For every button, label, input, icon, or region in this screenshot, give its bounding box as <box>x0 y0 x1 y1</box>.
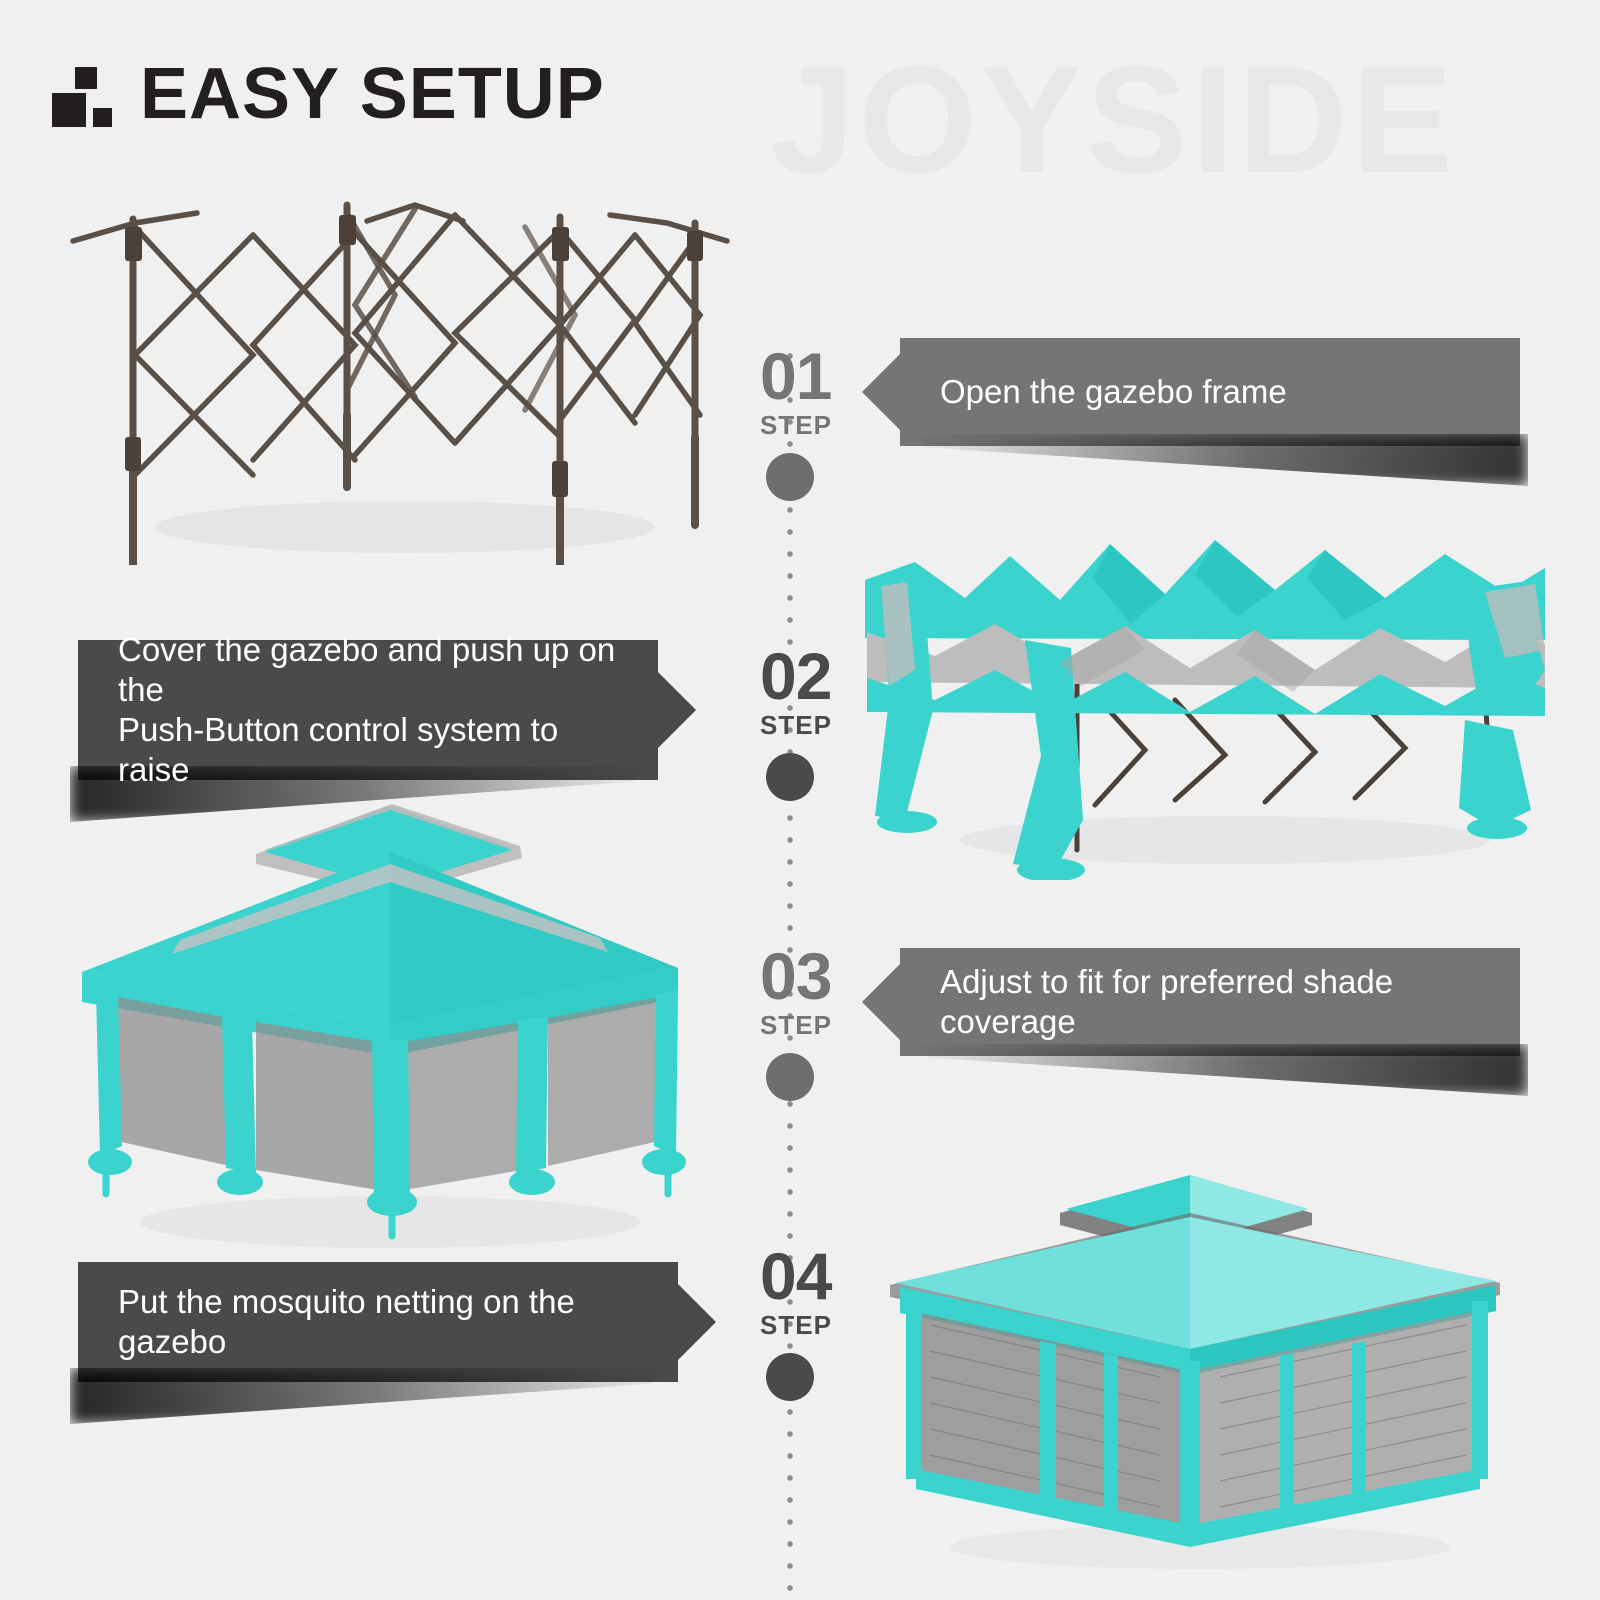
step-bullet <box>766 753 814 801</box>
callout-text-02-line2: Push-Button control system to raise <box>118 710 618 791</box>
gazebo-raised-photo <box>60 790 700 1260</box>
three-squares-icon <box>52 61 112 127</box>
step-label: STEP <box>760 1010 820 1041</box>
callout-step-01: Open the gazebo frame <box>900 338 1520 446</box>
step-marker-01: 01STEP <box>760 345 820 501</box>
step-bullet <box>766 1053 814 1101</box>
callout-text-01: Open the gazebo frame <box>940 372 1287 412</box>
brand-watermark: JOYSIDE <box>770 44 1457 196</box>
step-number: 02 <box>760 645 820 708</box>
callout-step-03: Adjust to fit for preferred shade covera… <box>900 948 1520 1056</box>
step-bullet <box>766 453 814 501</box>
step-marker-02: 02STEP <box>760 645 820 801</box>
step-label: STEP <box>760 710 820 741</box>
step-label: STEP <box>760 410 820 441</box>
page-header: EASY SETUP <box>52 58 605 130</box>
step-number: 01 <box>760 345 820 408</box>
step-bullet <box>766 1353 814 1401</box>
step-marker-04: 04STEP <box>760 1245 820 1401</box>
gazebo-canopy-draped-photo <box>845 520 1555 880</box>
callout-step-02: Cover the gazebo and push up on the Push… <box>78 640 658 780</box>
gazebo-with-netting-photo <box>860 1155 1530 1575</box>
step-marker-03: 03STEP <box>760 945 820 1101</box>
callout-step-04: Put the mosquito netting on the gazebo <box>78 1262 678 1382</box>
step-number: 03 <box>760 945 820 1008</box>
page-title: EASY SETUP <box>140 58 605 130</box>
steps-timeline: 01STEP02STEP03STEP04STEP <box>760 345 820 1600</box>
callout-text-02-line1: Cover the gazebo and push up on the <box>118 631 615 708</box>
gazebo-frame-open-photo <box>55 175 745 565</box>
callout-text-04: Put the mosquito netting on the gazebo <box>118 1282 638 1363</box>
callout-text-03: Adjust to fit for preferred shade covera… <box>940 962 1480 1043</box>
step-number: 04 <box>760 1245 820 1308</box>
callout-text-02: Cover the gazebo and push up on the Push… <box>118 630 618 791</box>
step-label: STEP <box>760 1310 820 1341</box>
